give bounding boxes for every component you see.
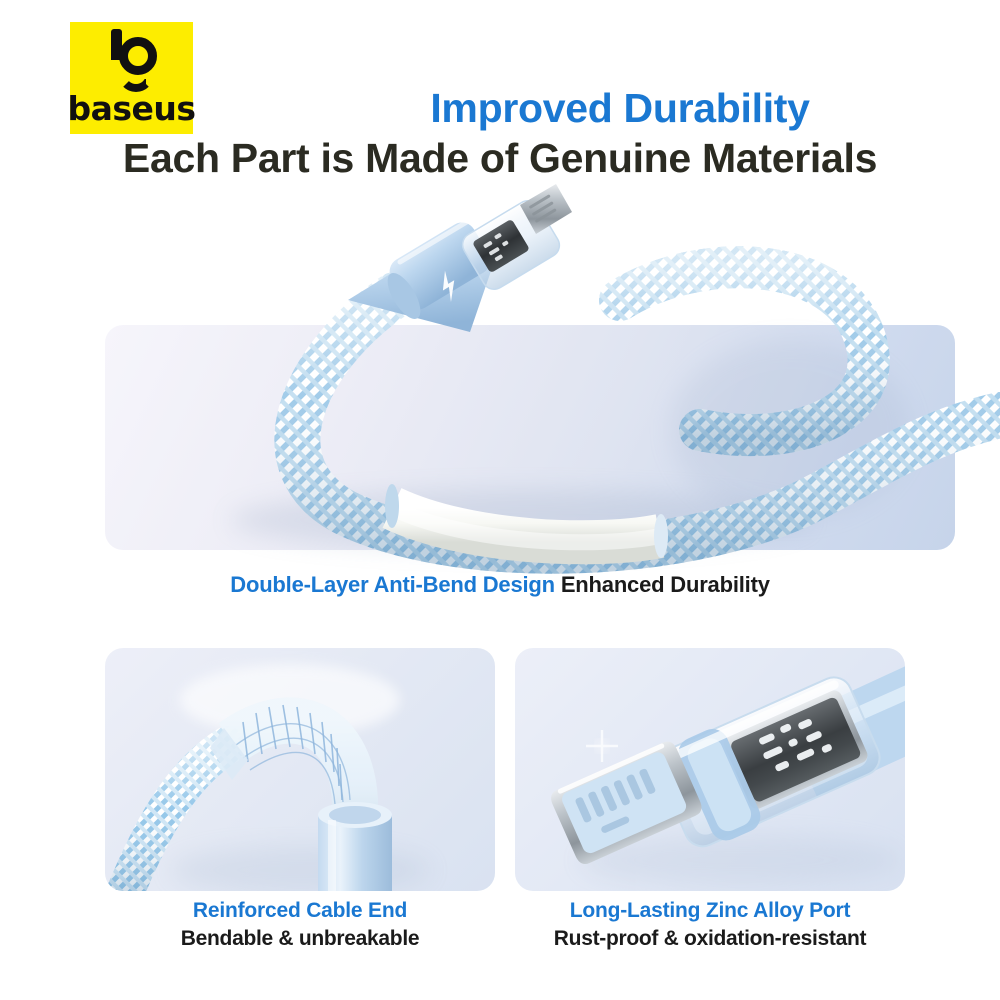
lightning-connector [348, 184, 572, 332]
baseus-b-monogram-icon [105, 29, 159, 85]
caption-br-sub: Rust-proof & oxidation-resistant [515, 925, 905, 953]
caption-bl-sub: Bendable & unbreakable [105, 925, 495, 953]
product-feature-page: baseus Improved Durability Each Part is … [0, 0, 1000, 1000]
caption-main-highlight: Double-Layer Anti-Bend Design [230, 572, 555, 597]
caption-br-title: Long-Lasting Zinc Alloy Port [515, 897, 905, 925]
caption-reinforced-cable-end: Reinforced Cable End Bendable & unbreaka… [105, 897, 495, 954]
headline-block: Improved Durability Each Part is Made of… [0, 86, 1000, 182]
caption-main: Double-Layer Anti-Bend Design Enhanced D… [0, 572, 1000, 598]
caption-main-rest: Enhanced Durability [561, 572, 770, 597]
panel-main-product-image [105, 325, 955, 550]
headline-primary: Improved Durability [0, 86, 1000, 132]
caption-zinc-alloy-port: Long-Lasting Zinc Alloy Port Rust-proof … [515, 897, 905, 954]
panel-zinc-alloy-port-image [515, 648, 905, 891]
caption-bl-title: Reinforced Cable End [105, 897, 495, 925]
panel-reinforced-cable-end-image [105, 648, 495, 891]
headline-secondary: Each Part is Made of Genuine Materials [0, 136, 1000, 182]
